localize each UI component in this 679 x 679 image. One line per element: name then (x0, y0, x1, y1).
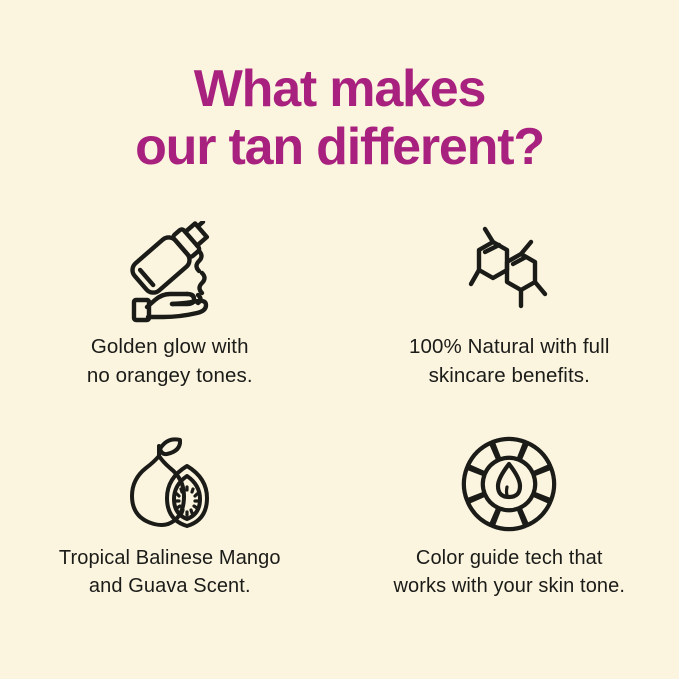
spray-bottle-hand-icon (114, 218, 226, 326)
feature-caption: Golden glow with no orangey tones. (87, 332, 253, 390)
feature-caption: Color guide tech that works with your sk… (393, 544, 625, 601)
promo-poster: What makes our tan different? (0, 0, 679, 679)
feature-item-color-guide: Color guide tech that works with your sk… (340, 430, 679, 620)
feature-caption: Tropical Balinese Mango and Guava Scent. (59, 544, 281, 601)
color-wheel-droplet-icon (457, 430, 561, 538)
mango-guava-fruit-icon (115, 430, 225, 538)
headline-line-2: our tan different? (0, 118, 679, 176)
feature-item-golden-glow: Golden glow with no orangey tones. (0, 218, 340, 408)
feature-item-scent: Tropical Balinese Mango and Guava Scent. (0, 430, 340, 620)
feature-item-natural: 100% Natural with full skincare benefits… (340, 218, 679, 408)
feature-grid: Golden glow with no orangey tones. (0, 218, 679, 620)
page-title: What makes our tan different? (0, 60, 679, 176)
molecule-hexagons-icon (455, 218, 563, 326)
headline-line-1: What makes (0, 60, 679, 118)
feature-caption: 100% Natural with full skincare benefits… (409, 332, 609, 390)
